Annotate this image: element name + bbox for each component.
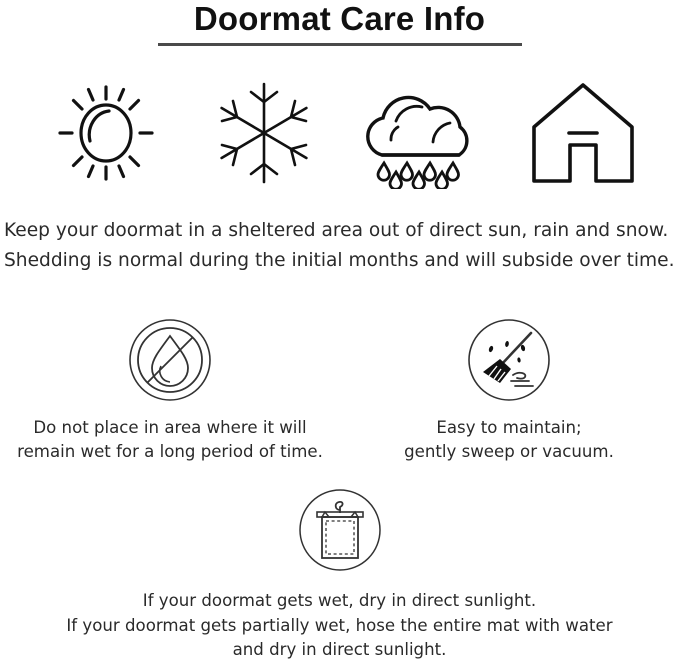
care-tips-row: Do not place in area where it will remai… <box>0 318 679 468</box>
broom-icon-slot <box>339 318 679 408</box>
rain-cloud-icon-slot <box>345 72 495 194</box>
drying-instructions-block: If your doormat gets wet, dry in direct … <box>0 488 679 663</box>
weather-icon-row <box>0 72 679 194</box>
care-tip-sweep: Easy to maintain; gently sweep or vacuum… <box>339 318 679 464</box>
intro-paragraph: Keep your doormat in a sheltered area ou… <box>4 216 679 276</box>
rain-cloud-icon <box>360 77 480 189</box>
hanging-mat-icon-slot <box>0 488 679 583</box>
intro-line-1: Keep your doormat in a sheltered area ou… <box>4 216 679 246</box>
no-water-icon <box>128 318 212 402</box>
sun-icon-slot <box>28 72 183 194</box>
no-water-icon-slot <box>0 318 340 408</box>
house-icon-slot <box>505 72 660 194</box>
snowflake-icon-slot <box>190 72 338 194</box>
hanging-mat-icon <box>298 488 382 572</box>
drying-line-2: If your doormat gets partially wet, hose… <box>0 614 679 639</box>
page-header: Doormat Care Info <box>0 0 679 46</box>
title-underline-divider <box>158 43 522 46</box>
drying-instructions-caption: If your doormat gets wet, dry in direct … <box>0 589 679 663</box>
care-tip-no-water-line-1: Do not place in area where it will <box>0 416 340 440</box>
intro-line-2: Shedding is normal during the initial mo… <box>4 246 679 276</box>
page-title: Doormat Care Info <box>0 2 679 36</box>
care-tip-sweep-line-1: Easy to maintain; <box>339 416 679 440</box>
snowflake-icon <box>215 80 313 186</box>
care-tip-no-water-line-2: remain wet for a long period of time. <box>0 440 340 464</box>
care-tip-sweep-caption: Easy to maintain; gently sweep or vacuum… <box>339 416 679 464</box>
drying-line-3: and dry in direct sunlight. <box>0 638 679 663</box>
care-tip-sweep-line-2: gently sweep or vacuum. <box>339 440 679 464</box>
sun-icon <box>54 81 158 185</box>
care-tip-no-water-caption: Do not place in area where it will remai… <box>0 416 340 464</box>
broom-icon <box>467 318 551 402</box>
drying-line-1: If your doormat gets wet, dry in direct … <box>0 589 679 614</box>
care-tip-no-water: Do not place in area where it will remai… <box>0 318 340 464</box>
house-icon <box>528 79 638 187</box>
